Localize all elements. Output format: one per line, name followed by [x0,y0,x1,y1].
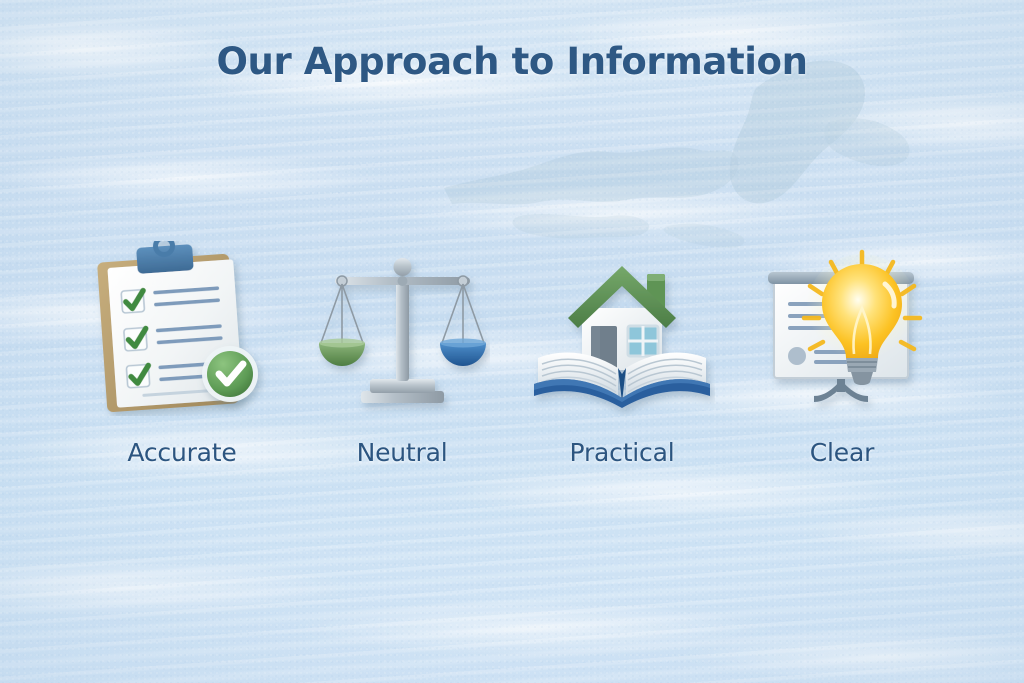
slide-canvas: Our Approach to Information [0,0,1024,683]
page-title: Our Approach to Information [0,40,1024,83]
icon-container-practical [530,236,715,416]
icon-container-accurate [90,236,275,416]
icon-container-clear [752,236,932,416]
approach-item-practical[interactable]: Practical [512,236,732,467]
approach-items-row: Accurate [72,236,952,467]
approach-item-neutral[interactable]: Neutral [292,236,512,467]
balance-scale-icon [315,251,490,416]
approach-item-accurate[interactable]: Accurate [72,236,292,467]
clipboard-checklist-icon [90,241,275,416]
approach-label-clear: Clear [810,438,874,467]
icon-container-neutral [315,236,490,416]
approach-label-practical: Practical [570,438,675,467]
approach-label-neutral: Neutral [357,438,448,467]
approach-item-clear[interactable]: Clear [732,236,952,467]
house-on-book-icon [530,256,715,416]
approach-label-accurate: Accurate [127,438,236,467]
presentation-lightbulb-icon [752,246,932,416]
